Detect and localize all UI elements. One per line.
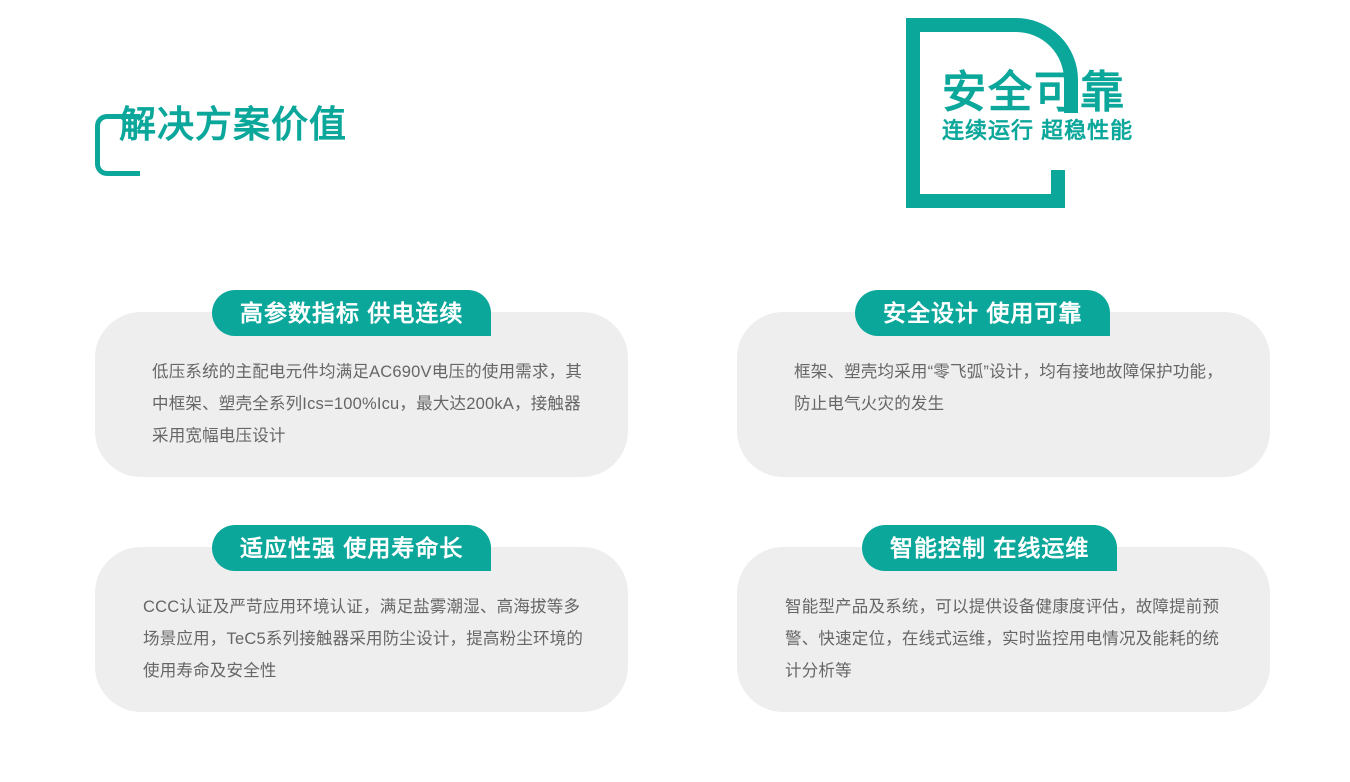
card-body-text: CCC认证及严苛应用环境认证，满足盐雾潮湿、高海拔等多场景应用，TeC5系列接触… [143,591,588,688]
card-badge-label: 高参数指标 供电连续 [240,302,463,325]
value-card-safe-design: 安全设计 使用可靠 框架、塑壳均采用“零飞弧”设计，均有接地故障保护功能，防止电… [737,312,1270,477]
card-body-text: 低压系统的主配电元件均满足AC690V电压的使用需求，其中框架、塑壳全系列Ics… [152,356,588,453]
value-card-smart-control: 智能控制 在线运维 智能型产品及系统，可以提供设备健康度评估，故障提前预警、快速… [737,547,1270,712]
page-title: 解决方案价值 [119,106,347,143]
logo-badge: 安全可靠 连续运行 超稳性能 [898,18,1128,208]
section-title-group: 解决方案价值 [95,106,347,143]
logo-sub-text: 连续运行 超稳性能 [942,118,1172,144]
card-body-text: 智能型产品及系统，可以提供设备健康度评估，故障提前预警、快速定位，在线式运维，实… [785,591,1230,688]
card-badge: 安全设计 使用可靠 [855,290,1110,336]
card-badge: 适应性强 使用寿命长 [212,525,491,571]
value-card-adaptability: 适应性强 使用寿命长 CCC认证及严苛应用环境认证，满足盐雾潮湿、高海拔等多场景… [95,547,628,712]
logo-main-text: 安全可靠 [942,70,1172,116]
card-body-text: 框架、塑壳均采用“零飞弧”设计，均有接地故障保护功能，防止电气火灾的发生 [794,356,1230,420]
slide-canvas: 解决方案价值 安全可靠 连续运行 超稳性能 高参数指标 供电连续 低压系统的主配… [0,0,1350,782]
card-badge: 智能控制 在线运维 [862,525,1117,571]
card-badge: 高参数指标 供电连续 [212,290,491,336]
card-badge-label: 安全设计 使用可靠 [883,302,1082,325]
card-badge-label: 智能控制 在线运维 [890,537,1089,560]
value-card-high-parameter: 高参数指标 供电连续 低压系统的主配电元件均满足AC690V电压的使用需求，其中… [95,312,628,477]
logo-text-group: 安全可靠 连续运行 超稳性能 [942,70,1172,145]
card-badge-label: 适应性强 使用寿命长 [240,537,463,560]
